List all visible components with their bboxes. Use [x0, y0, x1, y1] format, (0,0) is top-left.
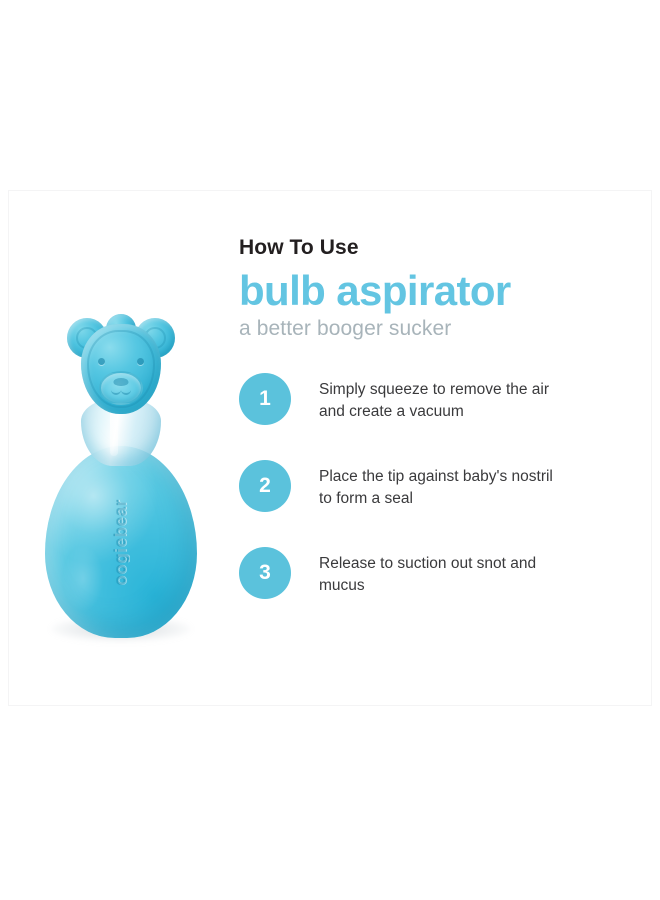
product-image-pane: oogiebear — [9, 191, 231, 705]
bear-eye-right-icon — [137, 358, 144, 365]
how-to-use-card: oogiebear How To Use bu — [8, 190, 652, 706]
bear-face-plate — [81, 324, 161, 414]
step-number-badge: 2 — [239, 460, 291, 512]
steps-list: 1 Simply squeeze to remove the air and c… — [239, 371, 621, 599]
bear-mouth-icon — [111, 385, 131, 398]
list-item: 1 Simply squeeze to remove the air and c… — [239, 371, 621, 425]
step-number-badge: 3 — [239, 547, 291, 599]
bear-eye-left-icon — [98, 358, 105, 365]
bear-face-icon — [67, 314, 175, 418]
eyebrow-heading: How To Use — [239, 236, 621, 260]
list-item: 2 Place the tip against baby's nostril t… — [239, 458, 621, 512]
step-description: Place the tip against baby's nostril to … — [319, 458, 567, 511]
page-title: bulb aspirator — [239, 270, 621, 313]
bear-muzzle-icon — [99, 371, 143, 405]
instructions-pane: How To Use bulb aspirator a better booge… — [231, 191, 651, 599]
product-illustration: oogiebear — [9, 286, 231, 656]
step-description: Release to suction out snot and mucus — [319, 545, 567, 598]
list-item: 3 Release to suction out snot and mucus — [239, 545, 621, 599]
step-number-badge: 1 — [239, 373, 291, 425]
page-subtitle: a better booger sucker — [239, 317, 621, 341]
step-description: Simply squeeze to remove the air and cre… — [319, 371, 567, 424]
squeeze-bulb-icon — [45, 446, 197, 638]
